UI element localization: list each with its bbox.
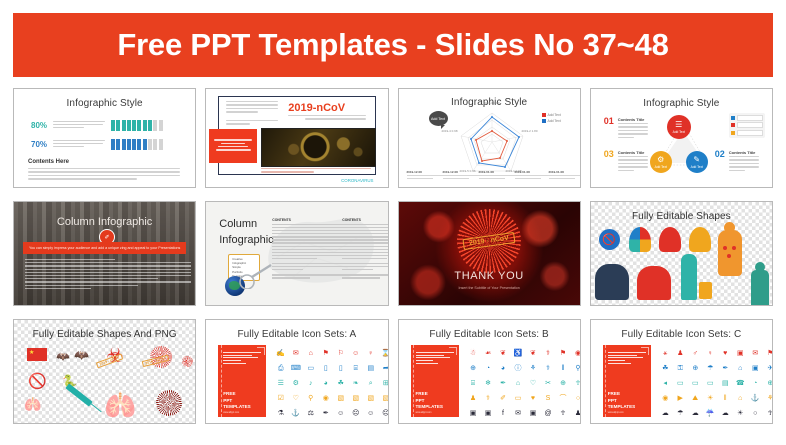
icon-a-23[interactable]: ☘ xyxy=(334,377,347,390)
footer-heading: 2019-12-08 xyxy=(407,170,443,174)
cover-red-text xyxy=(214,139,252,153)
icon-b-14[interactable]: ⚘ xyxy=(527,362,540,375)
cover-title: 2019-nCoV xyxy=(288,102,345,114)
book-templates: TEMPLATES xyxy=(416,404,443,410)
icon-b-38[interactable]: ▣ xyxy=(482,407,495,420)
body-lungs-icon xyxy=(718,230,742,276)
footer-block: 2019-01-08 xyxy=(479,170,515,180)
icon-a-4[interactable]: ⚑ xyxy=(319,347,332,360)
icon-b-19[interactable]: ⌸ xyxy=(467,377,480,390)
icon-c-17[interactable]: ✈ xyxy=(764,362,773,375)
icon-a-10[interactable]: ⎙ xyxy=(274,362,287,375)
slide-title: Fully Editable Icon Sets: C xyxy=(591,329,772,340)
head-mask-red-icon xyxy=(659,227,681,252)
lungs-outline-icon: 🫁 xyxy=(24,396,41,413)
virus-icon-dark xyxy=(156,390,182,416)
bat-icon: 🦇 xyxy=(56,350,70,363)
item-body-02 xyxy=(729,156,759,173)
icon-a-6[interactable]: ☺ xyxy=(349,347,362,360)
radar-axis-label: 2019-3 0.90 xyxy=(481,101,503,105)
woman-red-icon xyxy=(637,266,671,300)
icon-a-17[interactable]: ➦ xyxy=(379,362,388,375)
icon-a-24[interactable]: ❧ xyxy=(349,377,362,390)
thank-you-title: THANK YOU xyxy=(399,270,580,282)
banner: Free PPT Templates - Slides No 37~48 xyxy=(13,13,773,77)
slide-thumbnail-47[interactable]: Fully Editable Icon Sets: B FREE PPT TEM… xyxy=(398,319,581,424)
item-title-02: Contents Title xyxy=(729,150,756,155)
icon-c-33[interactable]: ⌂ xyxy=(734,392,747,405)
icon-b-23[interactable]: ♡ xyxy=(527,377,540,390)
item-title-01: Contents Title xyxy=(618,117,645,122)
icon-c-19[interactable]: ◂ xyxy=(659,377,672,390)
icon-grid-c: ⚹ ♟ ♂ ♀ ♥ ▣ ✉ ⚑ ❗ ☘ ⚿ ⊕ ☂ ✒ ⌂ ▣ ✈ xyxy=(659,347,773,420)
icon-c-21[interactable]: ▭ xyxy=(689,377,702,390)
icon-b-28[interactable]: ♟ xyxy=(467,392,480,405)
icon-c-14[interactable]: ✒ xyxy=(719,362,732,375)
icon-b-39[interactable]: f xyxy=(497,407,510,420)
icon-a-7[interactable]: ♀ xyxy=(364,347,377,360)
circle-item-03[interactable]: ⚙ Add Text xyxy=(650,151,672,173)
column-heading: CONTENTS xyxy=(342,218,388,222)
virus-icon-small xyxy=(182,356,193,367)
icon-a-21[interactable]: ♪ xyxy=(304,377,317,390)
footer-block: 2019-12-08 xyxy=(407,170,443,180)
stat-text xyxy=(53,121,105,130)
icon-c-10[interactable]: ☘ xyxy=(659,362,672,375)
contents-heading: Contents Here xyxy=(28,159,69,165)
icon-c-37[interactable]: ☁ xyxy=(659,407,672,420)
slide-title: Fully Editable Shapes And PNG xyxy=(14,329,195,340)
icon-a-33[interactable]: ▧ xyxy=(349,392,362,405)
icon-c-16[interactable]: ▣ xyxy=(749,362,762,375)
icon-b-3[interactable]: ❦ xyxy=(497,347,510,360)
no-entry-icon: 🚫 xyxy=(28,372,47,390)
icon-b-1[interactable]: ☃ xyxy=(467,347,480,360)
icon-b-21[interactable]: ✒ xyxy=(497,377,510,390)
slide-thumbnail-46[interactable]: Fully Editable Icon Sets: A FREE PPT TEM… xyxy=(205,319,388,424)
stat-percent: 80% xyxy=(31,121,53,130)
icon-c-7[interactable]: ✉ xyxy=(749,347,762,360)
icon-b-15[interactable]: ⚕ xyxy=(542,362,555,375)
icon-c-5[interactable]: ♥ xyxy=(719,347,732,360)
add-text-bubble: Add Text xyxy=(429,111,448,126)
icon-b-13[interactable]: ⓘ xyxy=(512,362,525,375)
slide-title: Column Infographic xyxy=(14,216,195,228)
folder-icon: ☰ xyxy=(675,121,682,129)
book-top-lines xyxy=(223,352,261,365)
icon-b-16[interactable]: ‖ xyxy=(557,362,570,375)
icon-c-30[interactable]: ⛰ xyxy=(689,392,702,405)
legend-item xyxy=(731,115,763,121)
cover-red-block xyxy=(209,129,257,163)
china-flag-icon xyxy=(27,348,47,361)
title-line-1: Column xyxy=(219,217,273,233)
icon-a-15[interactable]: ⌸ xyxy=(349,362,362,375)
footer-heading: 2019-01-08 xyxy=(549,170,581,174)
doctor-icon xyxy=(751,270,769,306)
free-ppt-templates-book: FREE PPT TEMPLATES www.allppt.com xyxy=(603,345,651,417)
icon-b-2[interactable]: ☙ xyxy=(482,347,495,360)
magnifier-icon xyxy=(239,263,273,289)
slide-thumbnail-44[interactable]: Fully Editable Shapes 🚫 xyxy=(590,201,773,306)
traveller-icon xyxy=(681,254,697,300)
icon-c-43[interactable]: ○ xyxy=(749,407,762,420)
footer-block: 2019-01-08 xyxy=(549,170,581,180)
book-label: FREE PPT TEMPLATES xyxy=(223,391,250,410)
woman-sneezing-icon xyxy=(595,264,629,300)
icon-a-28[interactable]: ☑ xyxy=(274,392,287,405)
legend-item xyxy=(731,122,763,128)
icon-a-31[interactable]: ◉ xyxy=(319,392,332,405)
icon-c-11[interactable]: ⚿ xyxy=(674,362,687,375)
icon-b-11[interactable]: ◔ xyxy=(482,362,495,375)
icon-b-17[interactable]: ⚲ xyxy=(572,362,581,375)
icon-b-44[interactable]: ♟ xyxy=(572,407,581,420)
icon-b-26[interactable]: ☥ xyxy=(572,377,581,390)
item-number-02: 02 xyxy=(715,149,725,159)
slide-thumbnail-40[interactable]: Infographic Style ☰ Add Text ✎ Add Text xyxy=(590,88,773,188)
icon-a-12[interactable]: ▭ xyxy=(304,362,317,375)
icon-a-34[interactable]: ▧ xyxy=(364,392,377,405)
icon-grid-b: ☃ ☙ ❦ ♿ ❦ ⚕ ⚑ ◉ ☠ ⊕ ◔ ◕ ⓘ ⚘ ⚕ ‖ ⚲ xyxy=(467,347,581,420)
icon-c-1[interactable]: ⚹ xyxy=(659,347,672,360)
icon-grid-a: ✍ ✉ ⌂ ⚑ ⚐ ☺ ♀ ⌛ ☗ ⎙ ⌨ ▭ ▯ ▯ ⌸ ▤ ➦ xyxy=(274,347,388,420)
slide-thumbnail-45[interactable]: Fully Editable Shapes And PNG 🦇 🦇 ☣ 2019… xyxy=(13,319,196,424)
suitcase-icon xyxy=(699,282,712,299)
icon-c-40[interactable]: ☔ xyxy=(704,407,717,420)
text-column-1: CONTENTS xyxy=(272,218,342,281)
icon-b-10[interactable]: ⊕ xyxy=(467,362,480,375)
stat-row-70: 70% xyxy=(31,139,163,150)
circle-item-01[interactable]: ☰ Add Text xyxy=(667,115,691,139)
circle-label: Add Text xyxy=(691,165,703,169)
free-ppt-templates-book: FREE PPT TEMPLATES www.allppt.com xyxy=(218,345,266,417)
icon-a-22[interactable]: ◕ xyxy=(319,377,332,390)
icon-c-29[interactable]: ▶ xyxy=(674,392,687,405)
cover-subtitle xyxy=(288,115,366,122)
book-url: www.allppt.com xyxy=(223,412,239,414)
item-number-01: 01 xyxy=(604,116,614,126)
icon-c-23[interactable]: ▤ xyxy=(719,377,732,390)
radar-legend: Add Text Add Text xyxy=(542,113,561,123)
photo-body-text xyxy=(25,259,191,291)
icon-a-8[interactable]: ⌛ xyxy=(379,347,388,360)
icon-a-37[interactable]: ⚗ xyxy=(274,407,287,420)
item-title-03: Contents Title xyxy=(618,150,645,155)
icon-a-29[interactable]: ♡ xyxy=(289,392,302,405)
icon-b-22[interactable]: ⌂ xyxy=(512,377,525,390)
column-heading: CONTENTS xyxy=(272,218,342,222)
pencil-icon: ✎ xyxy=(693,156,700,164)
book-label: FREE PPT TEMPLATES xyxy=(416,391,443,410)
book-templates: TEMPLATES xyxy=(608,404,635,410)
icon-c-15[interactable]: ⌂ xyxy=(734,362,747,375)
lungs-icon: 🫁 xyxy=(104,392,136,418)
footer-heading: 2019-01-08 xyxy=(479,170,515,174)
icon-b-8[interactable]: ◉ xyxy=(572,347,581,360)
book-url: www.allppt.com xyxy=(608,412,624,414)
cover-intro-text xyxy=(226,101,278,115)
coronavirus-image xyxy=(261,128,376,167)
slide-title: Column Infographic xyxy=(219,217,273,249)
icon-c-28[interactable]: ◉ xyxy=(659,392,672,405)
icon-a-11[interactable]: ⌨ xyxy=(289,362,302,375)
radar-axis-label: 2019-4 0.98 xyxy=(439,129,461,133)
icon-a-2[interactable]: ✉ xyxy=(289,347,302,360)
icon-b-33[interactable]: S xyxy=(542,392,555,405)
icon-a-13[interactable]: ▯ xyxy=(319,362,332,375)
legend-item: Add Text xyxy=(542,119,561,123)
radar-axis-label: 2019-2 1.80 xyxy=(519,129,541,133)
icon-a-38[interactable]: ⚓ xyxy=(289,407,302,420)
icon-b-41[interactable]: ▣ xyxy=(527,407,540,420)
no-mask-icon: 🚫 xyxy=(599,229,620,250)
icon-c-31[interactable]: ☀ xyxy=(704,392,717,405)
icon-c-2[interactable]: ♟ xyxy=(674,347,687,360)
slide-thumbnail-48[interactable]: Fully Editable Icon Sets: C FREE PPT TEM… xyxy=(590,319,773,424)
icon-a-39[interactable]: ⚖ xyxy=(304,407,317,420)
book-top-lines xyxy=(608,352,646,365)
thank-you-subtitle: Insert the Subtitle of Your Presentation xyxy=(399,286,580,290)
slide-thumbnail-37[interactable]: Infographic Style 80% 70% xyxy=(13,88,196,188)
icon-a-40[interactable]: ✒ xyxy=(319,407,332,420)
legend-label: Add Text xyxy=(548,113,561,117)
icon-b-35[interactable]: ○ xyxy=(572,392,581,405)
icon-a-32[interactable]: ▧ xyxy=(334,392,347,405)
slide-title: Infographic Style xyxy=(591,98,772,109)
icon-c-39[interactable]: ☁ xyxy=(689,407,702,420)
cover-intro-text-2 xyxy=(226,120,278,127)
slide-row-3: Fully Editable Shapes And PNG 🦇 🦇 ☣ 2019… xyxy=(13,319,773,424)
icon-c-13[interactable]: ☂ xyxy=(704,362,717,375)
icon-c-20[interactable]: ▭ xyxy=(674,377,687,390)
icon-a-35[interactable]: ▧ xyxy=(379,392,388,405)
book-top-lines xyxy=(416,352,454,365)
icon-c-35[interactable]: ⚘ xyxy=(764,392,773,405)
free-ppt-templates-book: FREE PPT TEMPLATES www.allppt.com xyxy=(411,345,459,417)
icon-a-43[interactable]: ☺ xyxy=(364,407,377,420)
icon-a-20[interactable]: ⚙ xyxy=(289,377,302,390)
icon-b-5[interactable]: ❦ xyxy=(527,347,540,360)
icon-b-42[interactable]: @ xyxy=(542,407,555,420)
color-legend xyxy=(729,113,765,138)
icon-c-4[interactable]: ♀ xyxy=(704,347,717,360)
icon-c-26[interactable]: ⊕ xyxy=(764,377,773,390)
banner-title: Free PPT Templates - Slides No 37~48 xyxy=(117,27,668,63)
icon-c-12[interactable]: ⊕ xyxy=(689,362,702,375)
footer-heading: 2019-12-08 xyxy=(443,170,479,174)
legend-label: Add Text xyxy=(548,119,561,123)
slide-title: Infographic Style xyxy=(14,98,195,109)
icon-c-22[interactable]: ▭ xyxy=(704,377,717,390)
icon-b-20[interactable]: ❄ xyxy=(482,377,495,390)
text-column-2: CONTENTS xyxy=(342,218,388,281)
book-templates: TEMPLATES xyxy=(223,404,250,410)
slide-thumbnail-43[interactable]: 2019 - nCoV THANK YOU Insert the Subtitl… xyxy=(398,201,581,306)
icon-c-32[interactable]: ‖ xyxy=(719,392,732,405)
contents-body xyxy=(28,168,180,182)
icon-a-41[interactable]: ☺ xyxy=(334,407,347,420)
footer-heading: 2019-01-08 xyxy=(515,170,551,174)
icon-a-26[interactable]: ⊞ xyxy=(379,377,388,390)
bubble-label: Add Text xyxy=(431,117,445,121)
item-number-03: 03 xyxy=(604,149,614,159)
icon-b-37[interactable]: ▣ xyxy=(467,407,480,420)
head-mask-orange-icon xyxy=(689,227,711,252)
footer-block: 2019-01-08 xyxy=(515,170,551,180)
icon-c-44[interactable]: ☥ xyxy=(764,407,773,420)
title-line-2: Infographic xyxy=(219,233,273,249)
icon-b-25[interactable]: ⊕ xyxy=(557,377,570,390)
icon-a-44[interactable]: ☹ xyxy=(379,407,388,420)
circle-item-02[interactable]: ✎ Add Text xyxy=(686,151,708,173)
icon-b-40[interactable]: ✉ xyxy=(512,407,525,420)
slide-thumbnail-41[interactable]: Column Infographic ✐ You can simply impr… xyxy=(13,201,196,306)
book-url: www.allppt.com xyxy=(416,412,432,414)
icon-b-30[interactable]: ✐ xyxy=(497,392,510,405)
band-text: You can simply impress your audience and… xyxy=(29,246,180,250)
pictogram-people-80 xyxy=(111,120,163,131)
item-body-01 xyxy=(618,123,648,140)
icon-a-19[interactable]: ☰ xyxy=(274,377,287,390)
icon-b-34[interactable]: ⌒ xyxy=(557,392,570,405)
legend-item: Add Text xyxy=(542,113,561,117)
icon-a-1[interactable]: ✍ xyxy=(274,347,287,360)
icon-b-31[interactable]: ▭ xyxy=(512,392,525,405)
icon-a-25[interactable]: ⌕ xyxy=(364,377,377,390)
icon-a-14[interactable]: ▯ xyxy=(334,362,347,375)
icon-a-3[interactable]: ⌂ xyxy=(304,347,317,360)
icon-a-5[interactable]: ⚐ xyxy=(334,347,347,360)
gear-icon: ⚙ xyxy=(657,156,664,164)
head-color-icon xyxy=(629,227,651,252)
icon-b-32[interactable]: ♥ xyxy=(527,392,540,405)
icon-b-7[interactable]: ⚑ xyxy=(557,347,570,360)
icon-c-6[interactable]: ▣ xyxy=(734,347,747,360)
bat-icon-2: 🦇 xyxy=(74,348,89,362)
icon-c-8[interactable]: ⚑ xyxy=(764,347,773,360)
icon-c-25[interactable]: ◔ xyxy=(749,377,762,390)
icon-c-24[interactable]: ☎ xyxy=(734,377,747,390)
icon-c-38[interactable]: ☂ xyxy=(674,407,687,420)
stat-row-80: 80% xyxy=(31,120,163,131)
slide-row-2: Column Infographic ✐ You can simply impr… xyxy=(13,201,773,306)
icon-c-41[interactable]: ☁ xyxy=(719,407,732,420)
pictogram-people-70 xyxy=(111,139,163,150)
icon-b-4[interactable]: ♿ xyxy=(512,347,525,360)
template-preview-page: Free PPT Templates - Slides No 37~48 Inf… xyxy=(0,0,786,445)
circle-label: Add Text xyxy=(655,165,667,169)
legend-item xyxy=(731,130,763,136)
slide-thumbnail-42[interactable]: Column Infographic Creative Infographic … xyxy=(205,201,388,306)
slide-thumbnail-39[interactable]: Infographic Style Add Text xyxy=(398,88,581,188)
icon-c-3[interactable]: ♂ xyxy=(689,347,702,360)
cover-footer: CORONAVIRUS xyxy=(341,178,373,183)
stat-percent: 70% xyxy=(31,140,53,149)
slide-title: Fully Editable Shapes xyxy=(591,211,772,222)
radar-chart xyxy=(455,109,529,175)
icon-b-6[interactable]: ⚕ xyxy=(542,347,555,360)
footer-block: 2019-12-08 xyxy=(443,170,479,180)
stat-text xyxy=(53,140,105,149)
red-band: You can simply impress your audience and… xyxy=(23,242,186,254)
slide-thumbnail-38[interactable]: 2019-nCoV xyxy=(205,88,388,188)
icon-a-16[interactable]: ▤ xyxy=(364,362,377,375)
slide-title: Fully Editable Icon Sets: A xyxy=(206,329,387,340)
book-label: FREE PPT TEMPLATES xyxy=(608,391,635,410)
icon-b-12[interactable]: ◕ xyxy=(497,362,510,375)
icon-b-43[interactable]: ☥ xyxy=(557,407,570,420)
icon-a-42[interactable]: ☹ xyxy=(349,407,362,420)
circle-label: Add Text xyxy=(673,130,685,134)
pen-icon: ✐ xyxy=(104,234,109,241)
slide-title: Fully Editable Icon Sets: B xyxy=(399,329,580,340)
icon-b-24[interactable]: ✂ xyxy=(542,377,555,390)
icon-c-34[interactable]: ⚓ xyxy=(749,392,762,405)
icon-c-42[interactable]: ☀ xyxy=(734,407,747,420)
icon-b-29[interactable]: ⚕ xyxy=(482,392,495,405)
slide-grid: Infographic Style 80% 70% xyxy=(13,88,773,436)
cover-caption xyxy=(261,168,371,175)
icon-a-30[interactable]: ⚲ xyxy=(304,392,317,405)
item-body-03 xyxy=(618,156,648,173)
slide-row-1: Infographic Style 80% 70% xyxy=(13,88,773,188)
